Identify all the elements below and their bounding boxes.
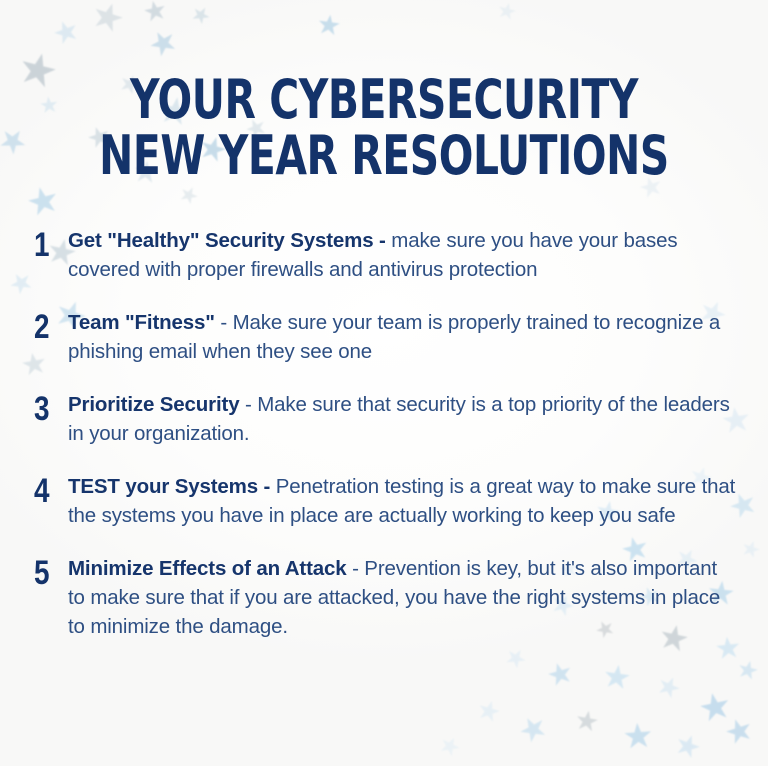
page-title: YOUR CYBERSECURITY NEW YEAR RESOLUTIONS (0, 72, 768, 184)
resolution-heading: Team "Fitness" (68, 311, 215, 334)
resolution-item: 3Prioritize Security - Make sure that se… (34, 390, 738, 448)
poster-canvas: YOUR CYBERSECURITY NEW YEAR RESOLUTIONS … (0, 0, 768, 766)
resolution-number: 1 (34, 226, 62, 262)
resolution-number: 5 (34, 554, 62, 590)
resolution-text: TEST your Systems - Penetration testing … (68, 472, 738, 530)
resolution-number: 3 (34, 390, 62, 426)
poster-content: YOUR CYBERSECURITY NEW YEAR RESOLUTIONS … (0, 0, 768, 766)
resolution-heading: Get "Healthy" Security Systems - (68, 229, 386, 252)
title-line-1: YOUR CYBERSECURITY (61, 72, 706, 128)
resolution-item: 2Team "Fitness" - Make sure your team is… (34, 308, 738, 366)
resolution-number: 2 (34, 308, 62, 344)
title-line-2: NEW YEAR RESOLUTIONS (61, 128, 706, 184)
resolution-text: Prioritize Security - Make sure that sec… (68, 390, 738, 448)
resolution-text: Minimize Effects of an Attack - Preventi… (68, 554, 738, 641)
resolution-heading: TEST your Systems - (68, 475, 270, 498)
resolution-item: 5Minimize Effects of an Attack - Prevent… (34, 554, 738, 641)
resolution-heading: Minimize Effects of an Attack (68, 557, 347, 580)
resolutions-list: 1Get "Healthy" Security Systems - make s… (0, 226, 768, 641)
resolution-heading: Prioritize Security (68, 393, 239, 416)
resolution-item: 4TEST your Systems - Penetration testing… (34, 472, 738, 530)
resolution-text: Team "Fitness" - Make sure your team is … (68, 308, 738, 366)
resolution-text: Get "Healthy" Security Systems - make su… (68, 226, 738, 284)
resolution-item: 1Get "Healthy" Security Systems - make s… (34, 226, 738, 284)
resolution-number: 4 (34, 472, 62, 508)
